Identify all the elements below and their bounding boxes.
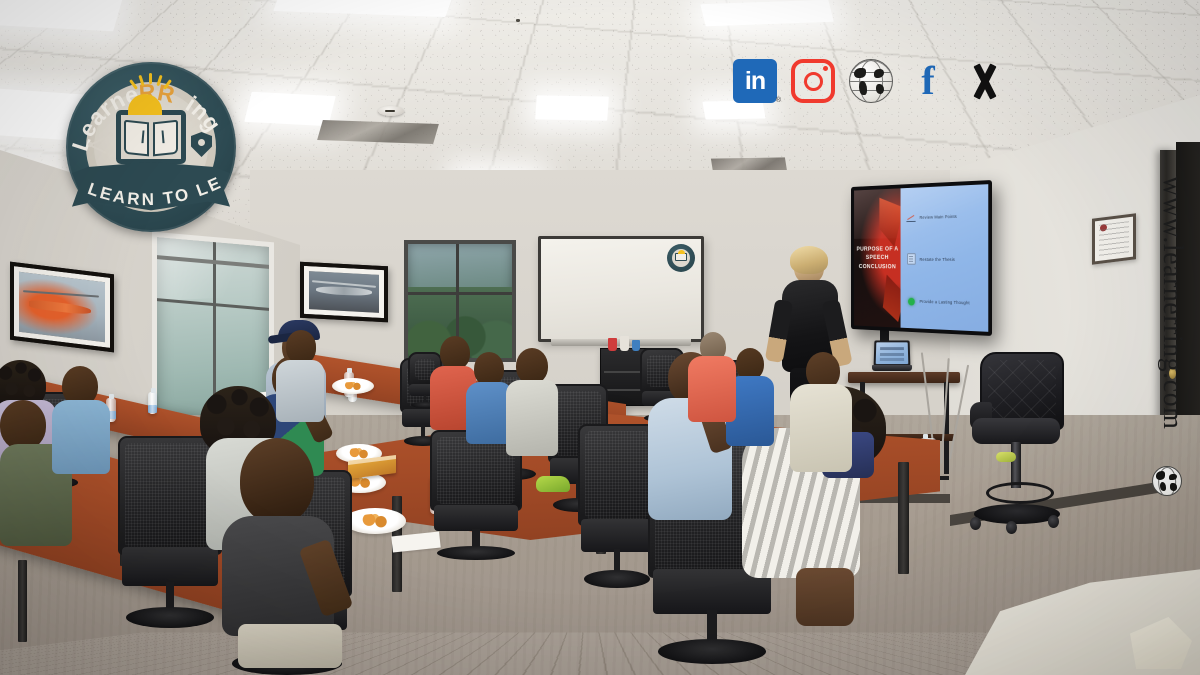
sneaker	[996, 452, 1016, 462]
green-dot-icon	[907, 296, 916, 307]
ceiling-speck	[516, 19, 520, 22]
linkedin-icon[interactable]: in ®	[733, 59, 777, 103]
monitor-icon	[116, 110, 186, 164]
sneaker	[536, 476, 570, 492]
framed-certificate	[1092, 213, 1136, 264]
ceiling-air-vent	[317, 120, 439, 144]
tv-screen: PURPOSE OF A SPEECH CONCLUSION Review Ma…	[854, 184, 988, 332]
student-shorts	[238, 624, 342, 668]
snack-plate	[344, 508, 406, 534]
presentation-television[interactable]: PURPOSE OF A SPEECH CONCLUSION Review Ma…	[851, 180, 992, 336]
student-front-grey	[222, 438, 352, 666]
office-chair[interactable]	[578, 424, 656, 588]
adult-torso	[688, 356, 736, 422]
snack-plate	[332, 378, 374, 394]
presenter-laptop[interactable]	[872, 340, 912, 374]
registered-mark: ®	[776, 97, 781, 104]
chair-caster-icon	[970, 517, 981, 530]
slide-bullet-panel: Review Main Points Restate the Thesis Pr…	[901, 184, 988, 332]
logo-tagline-banner: LEARN TO LEAD	[72, 162, 230, 224]
smoke-detector-icon	[378, 106, 404, 116]
svg-text:ing: ing	[181, 91, 226, 137]
cup-holder	[632, 340, 640, 351]
student-far-left-3	[52, 366, 116, 478]
whiteboard-logo-decal	[667, 244, 695, 272]
student-torso	[790, 384, 852, 472]
table-leg	[18, 560, 27, 642]
svg-text:LEARN TO LEAD: LEARN TO LEAD	[72, 162, 225, 209]
chair-caster-icon	[1048, 515, 1059, 528]
cup-holder	[620, 336, 629, 351]
facebook-label: f	[921, 63, 934, 99]
student-head	[516, 348, 548, 384]
student-head	[240, 438, 314, 524]
globe-icon	[1152, 466, 1182, 496]
student-center-left-1	[276, 330, 330, 426]
adult-coral-top	[688, 332, 742, 434]
document-icon	[907, 254, 916, 264]
open-book-icon	[124, 121, 178, 155]
linkedin-label: in	[745, 69, 765, 94]
cup-holder	[608, 338, 617, 351]
chair-caster-icon	[1006, 521, 1017, 534]
water-bottle[interactable]	[148, 392, 157, 414]
student-torso	[52, 400, 110, 474]
presenter-hair	[790, 246, 828, 274]
sun-ray	[149, 73, 152, 84]
x-twitter-icon[interactable]	[963, 59, 1007, 103]
framed-helicopter-photo	[10, 262, 114, 353]
slide-bullet: Review Main Points	[907, 210, 984, 223]
whiteboard	[538, 236, 704, 342]
slide-bullet: Restate the Thesis	[907, 254, 984, 265]
logo-tagline: LEARN TO LEAD	[72, 162, 225, 209]
student-torso	[506, 380, 558, 456]
globe-icon[interactable]	[849, 59, 893, 103]
ceiling-light-panel	[535, 95, 609, 120]
classroom-photo: PURPOSE OF A SPEECH CONCLUSION Review Ma…	[0, 0, 1200, 675]
student-head	[474, 352, 504, 386]
student-head	[0, 400, 46, 450]
student-center-4	[506, 348, 564, 458]
student-right-khaki	[790, 352, 860, 492]
website-watermark: www.learnerring.com	[1156, 176, 1188, 429]
student-head	[286, 330, 316, 364]
social-icon-bar: in ® f	[733, 55, 1007, 107]
slide-title-panel: PURPOSE OF A SPEECH CONCLUSION	[854, 188, 901, 327]
framed-osprey-photo	[300, 262, 388, 323]
network-node-icon	[88, 132, 114, 158]
slide-title: PURPOSE OF A SPEECH CONCLUSION	[854, 245, 901, 271]
student-torso	[276, 360, 324, 422]
logo-text-part3: ing	[181, 91, 226, 137]
table-leg	[898, 462, 909, 574]
ceiling-light-panel	[700, 0, 833, 26]
student-leg	[796, 568, 854, 626]
drafting-stool[interactable]	[968, 352, 1066, 530]
instagram-icon[interactable]	[791, 59, 835, 103]
facebook-icon[interactable]: f	[907, 59, 949, 103]
line-chart-icon	[907, 212, 916, 223]
learnerring-logo: Learne RR ing	[66, 62, 236, 232]
slide-bullet: Provide a Lasting Thought	[907, 296, 984, 309]
